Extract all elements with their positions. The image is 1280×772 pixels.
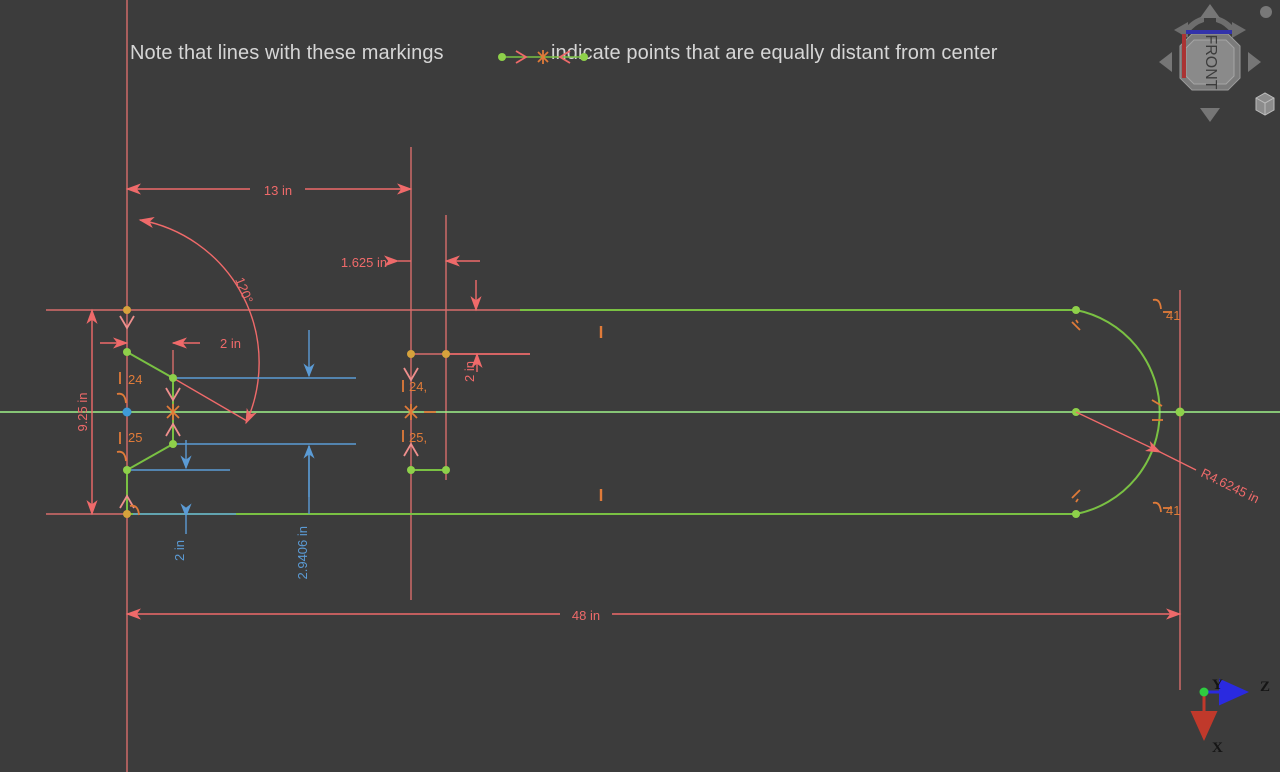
roll-cw-arrow-head[interactable] bbox=[1232, 22, 1246, 38]
sketch-canvas[interactable]: 13 in 120° 1.625 in 2 in 9.25 in bbox=[0, 0, 1280, 772]
dim-2in-left-label[interactable]: 2 in bbox=[220, 336, 241, 351]
rotate-down-arrow[interactable] bbox=[1200, 108, 1220, 122]
constraint-tangent-bottom[interactable] bbox=[1072, 490, 1080, 502]
sketch-geometry[interactable] bbox=[0, 310, 1280, 514]
arc-right-quadrant-point[interactable] bbox=[1176, 408, 1185, 417]
dim-radius-leader-ext bbox=[1150, 447, 1196, 470]
point-sketch-origin[interactable] bbox=[123, 408, 132, 417]
viewcube[interactable]: FRONT bbox=[1144, 0, 1276, 128]
axis-y-label: Y bbox=[1212, 677, 1223, 693]
dim-2in-blue-label[interactable]: 2 in bbox=[172, 540, 187, 561]
dim-2p9406-label[interactable]: 2.9406 in bbox=[295, 526, 310, 580]
note-symbol-graphic bbox=[496, 46, 590, 68]
constraint-24-left-label[interactable]: 24 bbox=[128, 372, 142, 387]
dim-2in-mid-group[interactable] bbox=[446, 354, 530, 372]
cad-viewport[interactable]: 13 in 120° 1.625 in 2 in 9.25 in bbox=[0, 0, 1280, 772]
dim-120deg-label[interactable]: 120° bbox=[232, 275, 256, 306]
point-taper-lower-right[interactable] bbox=[169, 440, 177, 448]
constraint-41-top-label[interactable]: 41 bbox=[1166, 308, 1180, 323]
dim-120deg-group[interactable] bbox=[140, 220, 259, 423]
constraint-41-bot-symbol[interactable] bbox=[1153, 503, 1161, 512]
dim-1625-label[interactable]: 1.625 in bbox=[341, 255, 387, 270]
axis-origin-point bbox=[1200, 688, 1209, 697]
point-taper-upper-right[interactable] bbox=[169, 374, 177, 382]
constraint-tangent-top[interactable] bbox=[1072, 320, 1080, 330]
constraint-41-bottom-label[interactable]: 41 bbox=[1166, 503, 1180, 518]
axis-z-label: Z bbox=[1260, 679, 1270, 695]
rotate-left-arrow[interactable] bbox=[1159, 52, 1172, 72]
point-origin-bottom[interactable] bbox=[123, 510, 131, 518]
axis-triad: Y Z X bbox=[1188, 676, 1278, 762]
point-taper-upper-left[interactable] bbox=[123, 348, 131, 356]
home-dot-icon[interactable] bbox=[1260, 6, 1272, 18]
dim-radius-leader bbox=[1076, 412, 1160, 452]
rotate-right-arrow[interactable] bbox=[1248, 52, 1261, 72]
constraint-24-mid-label[interactable]: 24, bbox=[409, 379, 427, 394]
constraint-41-top-symbol[interactable] bbox=[1153, 300, 1161, 309]
constraint-25-left-label[interactable]: 25 bbox=[128, 430, 142, 445]
point-col411-lower[interactable] bbox=[407, 466, 415, 474]
dim-radius-group[interactable] bbox=[1076, 412, 1196, 470]
dim-925-label[interactable]: 9.25 in bbox=[75, 392, 90, 431]
constraint-arc-25-left[interactable] bbox=[117, 452, 126, 461]
constraint-arc-24-left[interactable] bbox=[117, 394, 126, 403]
viewcube-face-label[interactable]: FRONT bbox=[1202, 34, 1219, 89]
construction-lines bbox=[46, 0, 1180, 772]
dim-120deg-arc bbox=[140, 220, 259, 423]
orthographic-cube-icon[interactable] bbox=[1256, 93, 1274, 115]
point-col411-upper[interactable] bbox=[407, 350, 415, 358]
note-prefix: Note that lines with these markings bbox=[130, 42, 444, 64]
arc-top-tangent-point[interactable] bbox=[1072, 306, 1080, 314]
arc-bottom-tangent-point[interactable] bbox=[1072, 510, 1080, 518]
dim-48in-label[interactable]: 48 in bbox=[572, 608, 600, 623]
dim-2in-mid-label[interactable]: 2 in bbox=[462, 361, 477, 382]
dim-120deg-leader bbox=[173, 378, 247, 421]
rotate-up-arrow[interactable] bbox=[1200, 4, 1220, 18]
constraint-25-mid-label[interactable]: 25, bbox=[409, 430, 427, 445]
point-col446-upper[interactable] bbox=[442, 350, 450, 358]
note-suffix: indicate points that are equally distant… bbox=[551, 42, 998, 64]
driven-dimensions[interactable] bbox=[127, 330, 356, 534]
point-taper-lower-left[interactable] bbox=[123, 466, 131, 474]
point-col446-lower[interactable] bbox=[442, 466, 450, 474]
dim-13in-label[interactable]: 13 in bbox=[264, 183, 292, 198]
constraint-tangent-mid[interactable] bbox=[1152, 400, 1162, 406]
point-origin-top[interactable] bbox=[123, 306, 131, 314]
axis-x-label: X bbox=[1212, 740, 1223, 756]
constraint-glyphs[interactable] bbox=[117, 300, 1172, 515]
geom-lower-taper[interactable] bbox=[127, 444, 173, 470]
dim-radius-label[interactable]: R4.6245 in bbox=[1199, 465, 1262, 506]
